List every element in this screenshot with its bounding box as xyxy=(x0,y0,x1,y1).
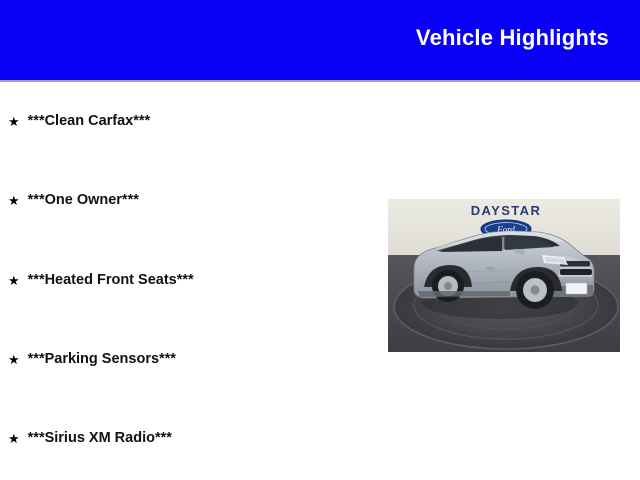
header-banner: Vehicle Highlights xyxy=(0,0,640,80)
header-divider xyxy=(0,80,640,82)
star-icon: ★ xyxy=(8,194,20,207)
star-icon: ★ xyxy=(8,115,20,128)
list-item: ★ ***Heated Front Seats*** xyxy=(8,270,194,290)
vehicle-photo: DAYSTAR Ford xyxy=(388,199,620,352)
list-item: ★ ***Clean Carfax*** xyxy=(8,111,150,131)
star-icon: ★ xyxy=(8,432,20,445)
highlight-label: ***Parking Sensors*** xyxy=(28,352,176,367)
dealer-name-text: DAYSTAR xyxy=(471,203,541,218)
list-item: ★ ***One Owner*** xyxy=(8,190,139,210)
highlight-label: ***Clean Carfax*** xyxy=(28,114,151,129)
highlight-label: ***One Owner*** xyxy=(28,193,139,208)
star-icon: ★ xyxy=(8,353,20,366)
star-icon: ★ xyxy=(8,274,20,287)
list-item: ★ ***Sirius XM Radio*** xyxy=(8,428,172,448)
page-title: Vehicle Highlights xyxy=(416,27,609,49)
highlight-label: ***Heated Front Seats*** xyxy=(28,273,194,288)
highlight-label: ***Sirius XM Radio*** xyxy=(28,431,172,446)
list-item: ★ ***Parking Sensors*** xyxy=(8,349,176,369)
